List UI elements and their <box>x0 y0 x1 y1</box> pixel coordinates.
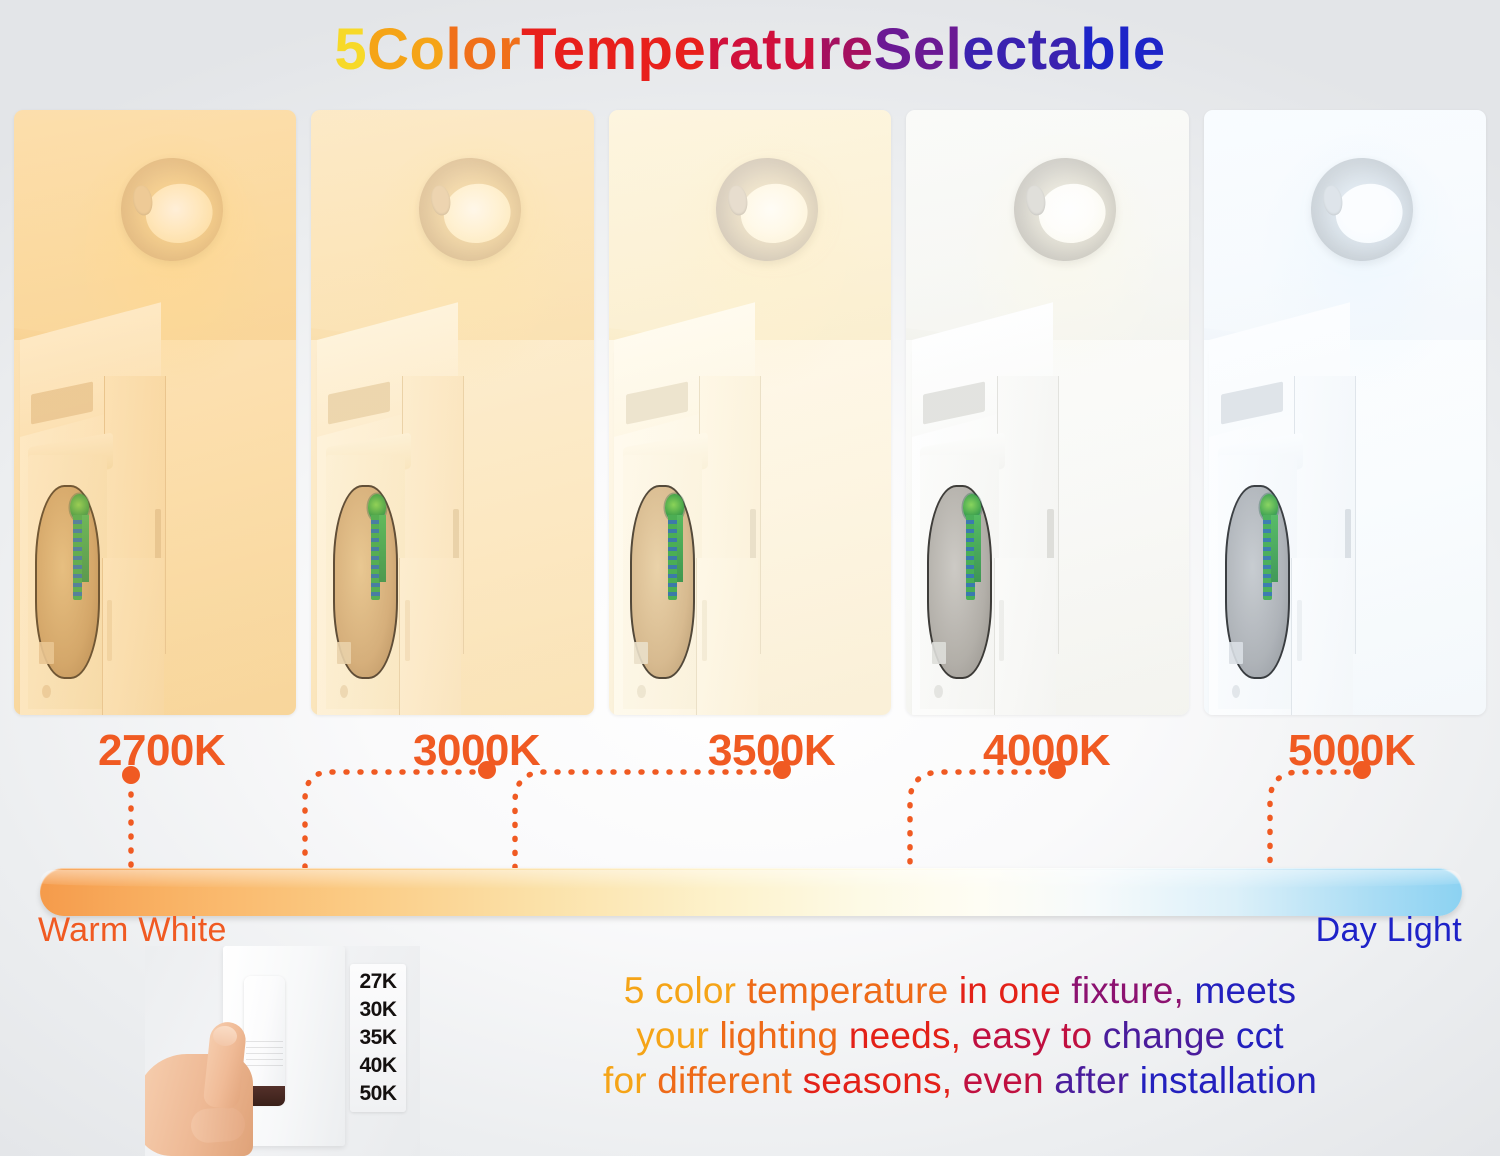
desc-l2-b: lighting <box>719 1015 848 1056</box>
desc-l3-a: for <box>603 1060 657 1101</box>
description-line-1: 5 color temperature in one fixture, meet… <box>455 968 1465 1013</box>
infographic-root: 5 Color Temperature Selectable <box>0 0 1500 1156</box>
desc-l1-a: 5 color <box>624 970 747 1011</box>
cct-option-35k[interactable]: 35K <box>359 1026 396 1050</box>
title-seg-3: lor <box>445 16 521 83</box>
cct-photo-strip <box>14 110 1486 715</box>
title-seg-2: Co <box>367 16 445 83</box>
appliance-knob <box>340 685 348 698</box>
cct-label-5000k: 5000K <box>1288 726 1415 776</box>
award-ribbon-tail-2 <box>974 515 981 582</box>
photo-panel-3000k <box>311 110 593 715</box>
cct-option-50k[interactable]: 50K <box>359 1082 396 1106</box>
desc-l2-d: easy to <box>972 1015 1103 1056</box>
appliance-knob <box>42 685 50 698</box>
lower-cabinet-slot <box>1297 600 1302 661</box>
description-line-3: for different seasons, even after instal… <box>455 1058 1465 1103</box>
award-ribbon-tail-2 <box>82 515 89 582</box>
photo-panel-5000k <box>1204 110 1486 715</box>
award-ribbon-tail-2 <box>677 515 684 582</box>
desc-l2-a: your <box>636 1015 719 1056</box>
lower-cabinet-slot <box>999 600 1004 661</box>
title-seg-4: Tempe <box>521 16 706 83</box>
scale-bar-gloss <box>40 870 1462 888</box>
appliance-knob <box>934 685 942 698</box>
desc-l3-d: even <box>963 1060 1055 1101</box>
desc-l3-e: after <box>1054 1060 1140 1101</box>
room-scene <box>1204 110 1486 715</box>
cct-label-3500k: 3500K <box>708 726 835 776</box>
connector-3500k <box>515 772 782 882</box>
cct-option-30k[interactable]: 30K <box>359 998 396 1022</box>
color-temperature-scale[interactable] <box>40 868 1462 916</box>
light-lens <box>737 179 813 248</box>
desc-l3-c: seasons, <box>803 1060 963 1101</box>
lower-cabinet-slot <box>702 600 707 661</box>
description-block: 5 color temperature in one fixture, meet… <box>455 968 1465 1103</box>
desc-l1-b: temperature <box>747 970 959 1011</box>
second-finger <box>190 1106 246 1144</box>
light-lens <box>142 179 218 248</box>
cct-label-3000k: 3000K <box>413 726 540 776</box>
title-seg-5: ratu <box>706 16 818 83</box>
desc-l1-d: fixture, <box>1071 970 1194 1011</box>
desc-l2-c: needs, <box>849 1015 972 1056</box>
description-line-2: your lighting needs, easy to change cct <box>455 1013 1465 1058</box>
cct-option-list[interactable]: 27K 30K 35K 40K 50K <box>350 964 406 1112</box>
desc-l2-e: change <box>1103 1015 1236 1056</box>
photo-panel-3500k <box>609 110 891 715</box>
room-scene <box>14 110 296 715</box>
page-title: 5 Color Temperature Selectable <box>0 16 1500 83</box>
appliance-badge <box>337 642 351 663</box>
scale-label-day-light: Day Light <box>1316 911 1462 950</box>
title-seg-8: ecta <box>962 16 1080 83</box>
light-lens <box>1034 179 1110 248</box>
photo-panel-2700k <box>14 110 296 715</box>
desc-l2-f: cct <box>1236 1015 1284 1056</box>
light-lens <box>440 179 516 248</box>
cct-option-40k[interactable]: 40K <box>359 1054 396 1078</box>
desc-l3-f: installation <box>1140 1060 1317 1101</box>
appliance-badge <box>39 642 53 663</box>
appliance-badge <box>932 642 946 663</box>
room-scene <box>906 110 1188 715</box>
hand-illustration <box>145 1014 275 1156</box>
appliance-badge <box>1229 642 1243 663</box>
appliance-badge <box>634 642 648 663</box>
lower-cabinet-slot <box>107 600 112 661</box>
cct-option-27k[interactable]: 27K <box>359 970 396 994</box>
connector-3000k <box>305 772 487 882</box>
connector-4000k <box>910 772 1057 882</box>
room-scene <box>609 110 891 715</box>
light-lens <box>1332 179 1408 248</box>
desc-l1-e: meets <box>1194 970 1296 1011</box>
lower-cabinet-slot <box>405 600 410 661</box>
cct-label-4000k: 4000K <box>983 726 1110 776</box>
cct-label-2700k: 2700K <box>98 726 225 776</box>
award-ribbon-tail-2 <box>1271 515 1278 582</box>
photo-panel-4000k <box>906 110 1188 715</box>
connector-5000k <box>1270 772 1362 882</box>
appliance-knob <box>637 685 645 698</box>
desc-l3-b: different <box>657 1060 802 1101</box>
title-seg-9: ble <box>1080 16 1165 83</box>
scale-label-warm-white: Warm White <box>38 911 227 950</box>
room-scene <box>311 110 593 715</box>
title-seg-6: re <box>818 16 874 83</box>
title-seg-7: Sel <box>874 16 963 83</box>
wall-switch-photo: 27K 30K 35K 40K 50K <box>145 946 420 1156</box>
desc-l1-c: in one <box>959 970 1072 1011</box>
title-seg-1: 5 <box>334 16 367 83</box>
award-ribbon-tail-2 <box>379 515 386 582</box>
